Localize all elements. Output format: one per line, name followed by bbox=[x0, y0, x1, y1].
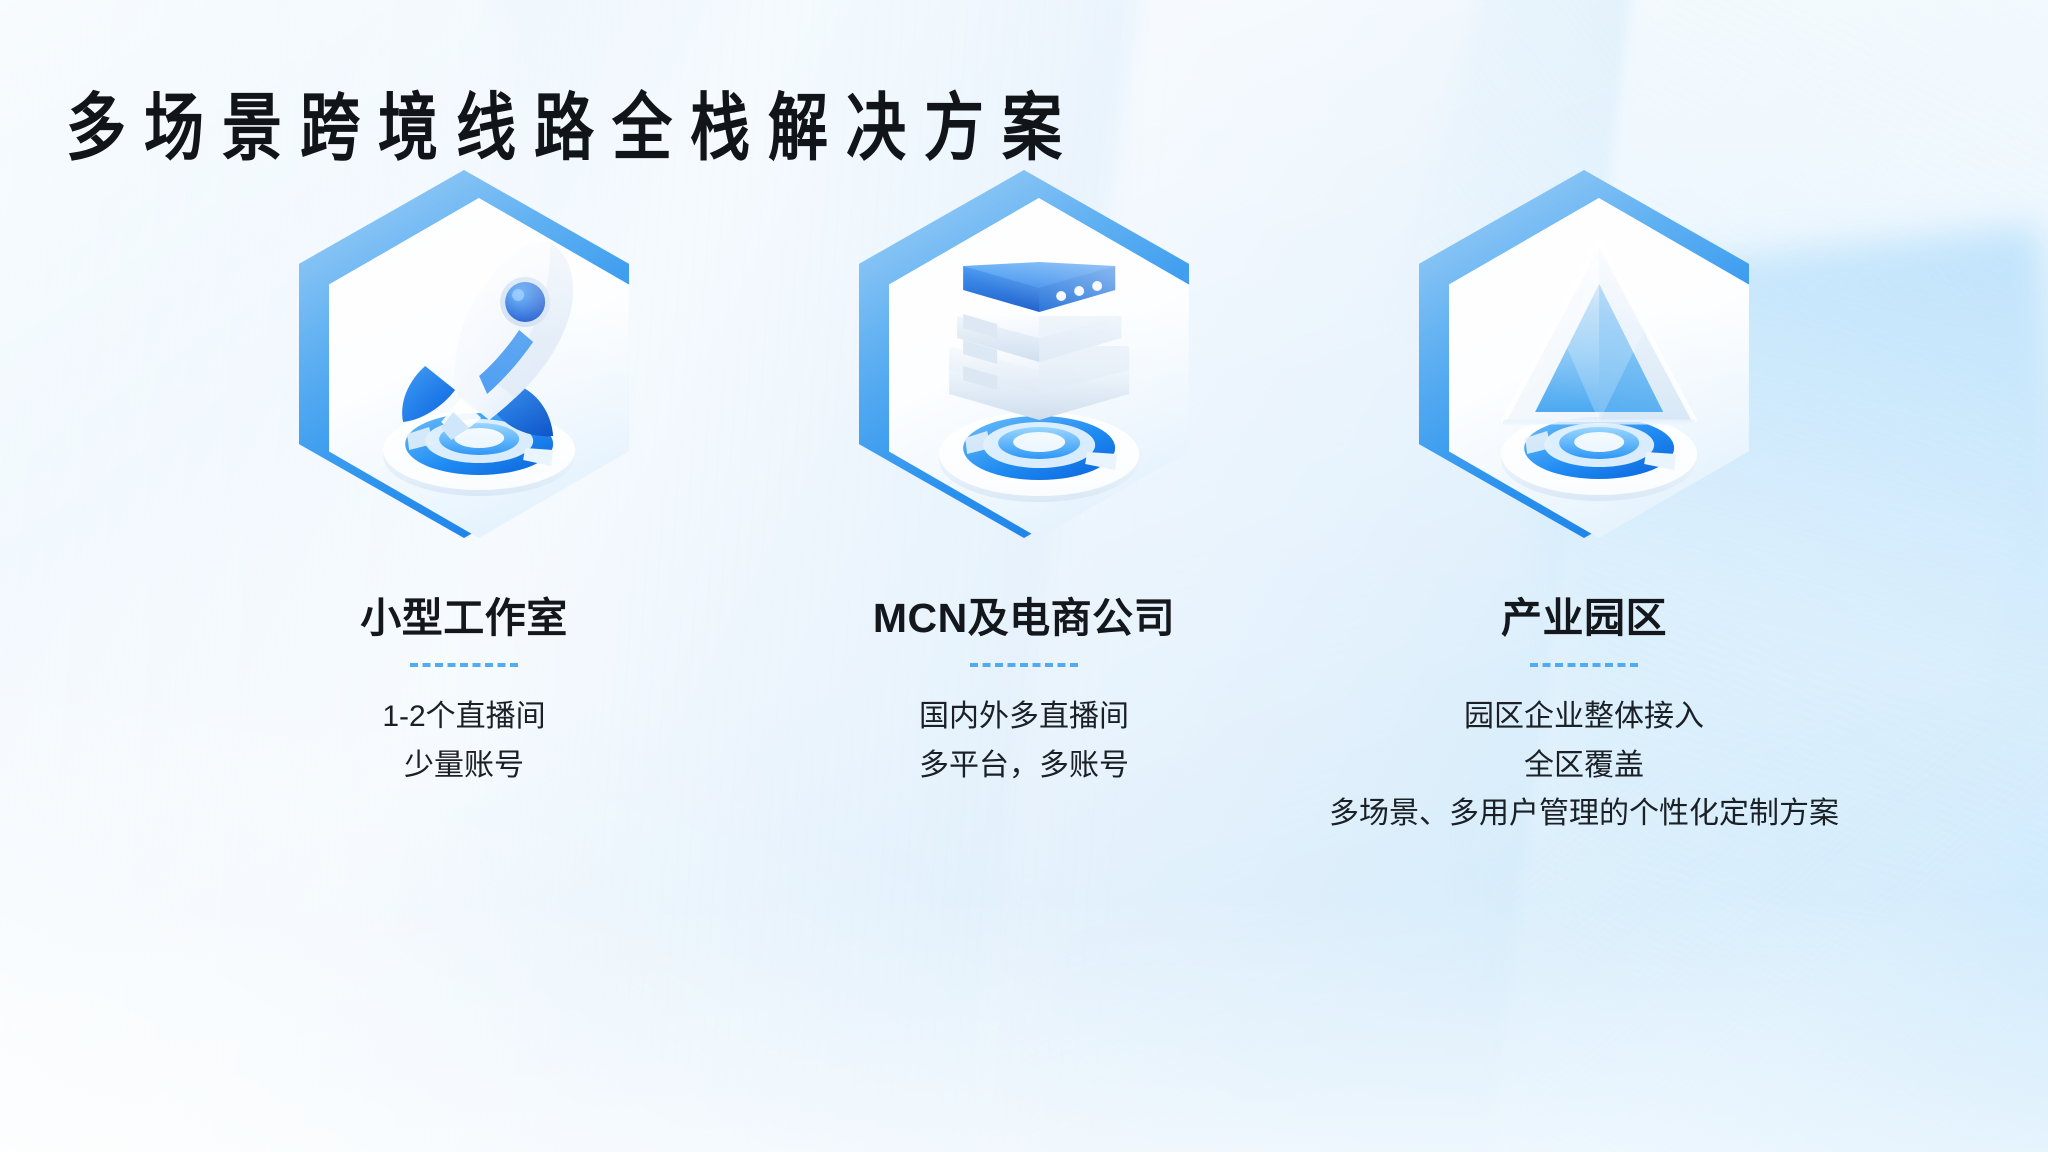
card-description-line: 全区覆盖 bbox=[1329, 742, 1839, 791]
solution-card-industrial-park[interactable]: 产业园区 园区企业整体接入 全区覆盖 多场景、多用户管理的个性化定制方案 bbox=[1304, 170, 1864, 839]
card-description: 1-2个直播间 少量账号 bbox=[382, 693, 545, 790]
card-description: 国内外多直播间 多平台，多账号 bbox=[919, 693, 1129, 790]
card-title: 产业园区 bbox=[1501, 596, 1667, 641]
hexagon-illustration-3 bbox=[1419, 170, 1749, 538]
page-title: 多场景跨境线路全栈解决方案 bbox=[66, 92, 1080, 165]
pyramid-3d-icon bbox=[1449, 198, 1749, 538]
slide-canvas: 多场景跨境线路全栈解决方案 bbox=[0, 0, 2048, 1152]
hexagon-illustration-2 bbox=[859, 170, 1189, 538]
card-divider bbox=[970, 663, 1078, 667]
card-description: 园区企业整体接入 全区覆盖 多场景、多用户管理的个性化定制方案 bbox=[1329, 693, 1839, 839]
card-description-line: 多平台，多账号 bbox=[919, 742, 1129, 791]
rocket-3d-icon bbox=[329, 198, 629, 538]
card-description-line: 1-2个直播间 bbox=[382, 693, 545, 742]
solution-card-small-studio[interactable]: 小型工作室 1-2个直播间 少量账号 bbox=[184, 170, 744, 790]
card-description-line: 园区企业整体接入 bbox=[1329, 693, 1839, 742]
card-divider bbox=[1530, 663, 1638, 667]
solution-card-mcn-ecommerce[interactable]: MCN及电商公司 国内外多直播间 多平台，多账号 bbox=[744, 170, 1304, 790]
card-divider bbox=[410, 663, 518, 667]
server-stack-3d-icon bbox=[889, 198, 1189, 538]
card-description-line: 多场景、多用户管理的个性化定制方案 bbox=[1329, 790, 1839, 839]
card-description-line: 国内外多直播间 bbox=[919, 693, 1129, 742]
background-bottom-fade bbox=[0, 892, 2048, 1152]
solution-card-row: 小型工作室 1-2个直播间 少量账号 bbox=[0, 170, 2048, 839]
hexagon-illustration-1 bbox=[299, 170, 629, 538]
card-title: 小型工作室 bbox=[360, 596, 568, 641]
card-title: MCN及电商公司 bbox=[873, 596, 1175, 641]
card-description-line: 少量账号 bbox=[382, 742, 545, 791]
